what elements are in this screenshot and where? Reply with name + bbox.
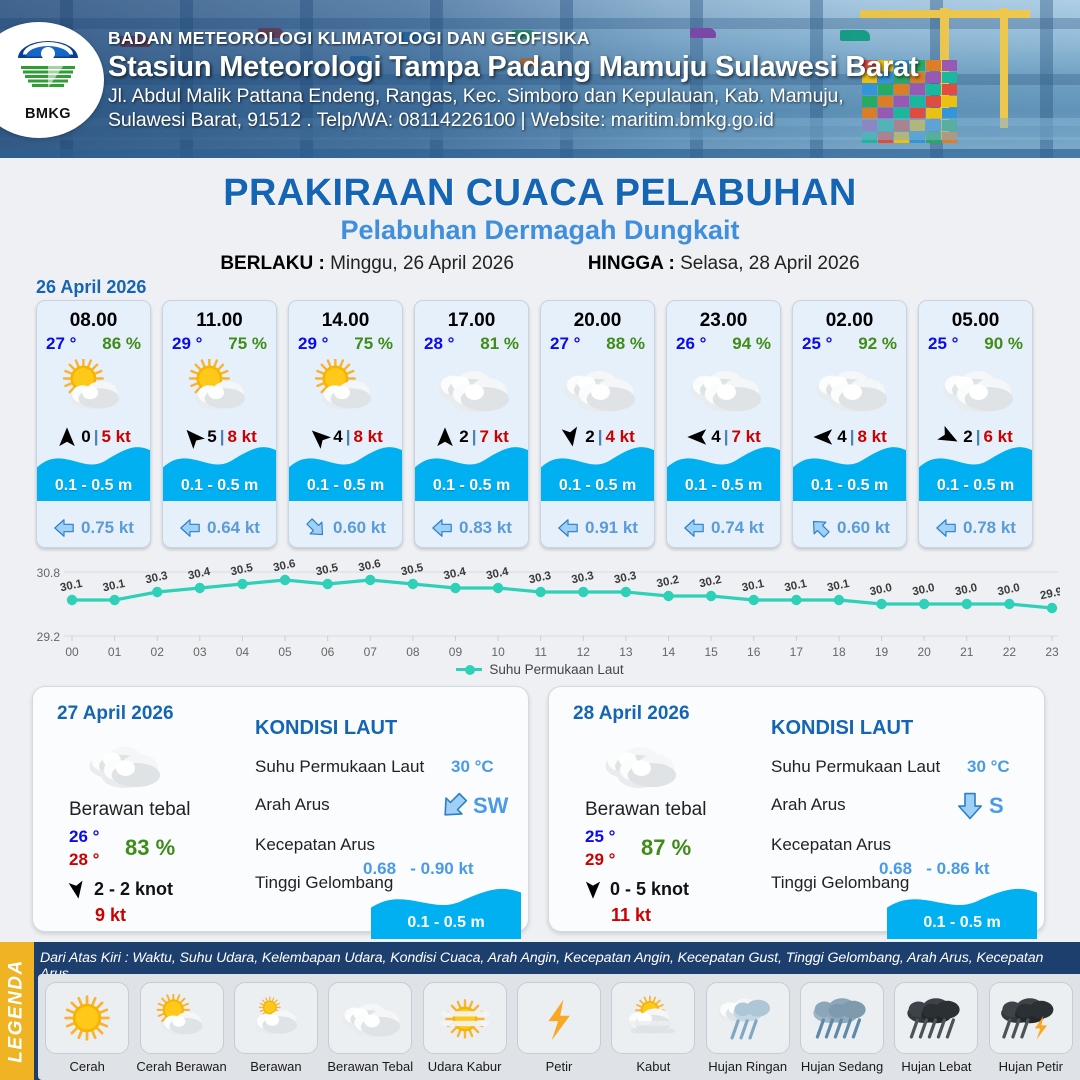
legenda-item[interactable]: Hujan Petir (984, 982, 1078, 1074)
card-wave-wrap: 0.1 - 0.5 m (163, 443, 276, 501)
legenda-item[interactable]: Hujan Ringan (701, 982, 795, 1074)
card-current-speed: 0.60 kt (333, 518, 386, 538)
chart-data-point (322, 579, 332, 589)
chart-data-point (834, 595, 844, 605)
day-gust: 11 kt (611, 905, 651, 926)
legenda-item[interactable]: Hujan Sedang (795, 982, 889, 1074)
card-current-speed: 0.60 kt (837, 518, 890, 538)
card-weather-icon-wrap (667, 357, 780, 419)
card-humidity: 86 % (102, 334, 141, 354)
chart-ytick-min: 29.2 (37, 630, 61, 644)
card-time: 14.00 (289, 310, 402, 332)
card-wave-wrap: 0.1 - 0.5 m (793, 443, 906, 501)
chart-xtick-label: 07 (364, 645, 378, 659)
day-sea-title: KONDISI LAUT (255, 717, 397, 740)
chart-point-label: 30.2 (656, 574, 680, 590)
legenda-item-label: Kabut (636, 1059, 670, 1074)
card-weather-icon-wrap (289, 357, 402, 419)
day-condition: Berawan tebal (69, 799, 190, 821)
sst-chart: 30.829.230.10030.10130.30230.40330.50430… (20, 556, 1060, 676)
chart-xtick-label: 00 (65, 645, 79, 659)
legenda-icon-tile (800, 982, 884, 1054)
chart-data-point (408, 579, 418, 589)
legenda-icon-tile (517, 982, 601, 1054)
current-direction-arrow-icon (935, 517, 957, 539)
day-sst-label: Suhu Permukaan Laut (771, 757, 940, 777)
card-air-temperature: 27 ° (550, 334, 580, 354)
chart-data-point (450, 583, 460, 593)
berawan-icon (245, 994, 307, 1042)
sun-icon (66, 997, 109, 1040)
hujan-lebat-icon (905, 994, 967, 1042)
card-time: 11.00 (163, 310, 276, 332)
kabut-icon (622, 994, 684, 1042)
legenda-icon-tile (989, 982, 1073, 1054)
card-current-speed: 0.78 kt (963, 518, 1016, 538)
card-wave-wrap: 0.1 - 0.5 m (919, 443, 1032, 501)
card-wave-wrap: 0.1 - 0.5 m (289, 443, 402, 501)
card-current-row: 0.64 kt (163, 517, 276, 539)
forecast-card[interactable]: 02.00 25 ° 92 % 4 | 8 kt (792, 300, 907, 548)
valid-from-value: Minggu, 26 April 2026 (330, 253, 514, 274)
day-wave-value: 0.1 - 0.5 m (887, 914, 1037, 932)
legenda-item-label: Cerah (69, 1059, 104, 1074)
card-current-row: 0.74 kt (667, 517, 780, 539)
chart-xtick-label: 04 (236, 645, 250, 659)
forecast-card[interactable]: 11.00 29 ° 75 % 5 | 8 kt (162, 300, 277, 548)
card-air-temperature: 28 ° (424, 334, 454, 354)
legenda-icon-tile (328, 982, 412, 1054)
forecast-card[interactable]: 05.00 25 ° 90 % 2 | 6 kt (918, 300, 1033, 548)
card-humidity: 94 % (732, 334, 771, 354)
legenda-item-label: Hujan Ringan (708, 1059, 787, 1074)
hujan-sedang-icon (811, 994, 873, 1042)
card-current-row: 0.75 kt (37, 517, 150, 539)
chart-ytick-max: 30.8 (37, 566, 61, 580)
legenda-icon-tile (423, 982, 507, 1054)
legenda-item[interactable]: Berawan (229, 982, 323, 1074)
day-wind-range: 0 - 5 knot (610, 879, 689, 900)
legenda-item-label: Berawan (250, 1059, 301, 1074)
legenda-item-label: Udara Kabur (428, 1059, 502, 1074)
current-direction-arrow-icon (433, 785, 475, 827)
berawan-tebal-icon (560, 359, 636, 418)
forecast-card[interactable]: 14.00 29 ° 75 % 4 | 8 kt (288, 300, 403, 548)
chart-data-point (621, 587, 631, 597)
day-date: 27 April 2026 (57, 703, 174, 725)
chart-point-label: 30.0 (869, 582, 893, 598)
current-direction-arrow-icon (557, 517, 579, 539)
chart-xtick-label: 18 (832, 645, 846, 659)
card-time: 08.00 (37, 310, 150, 332)
day-current-speed-label: Kecepatan Arus (771, 835, 891, 855)
chart-point-label: 30.2 (698, 574, 722, 590)
card-time: 23.00 (667, 310, 780, 332)
card-wave-wrap: 0.1 - 0.5 m (37, 443, 150, 501)
forecast-card[interactable]: 20.00 27 ° 88 % 2 | 4 kt (540, 300, 655, 548)
hujan-ringan-icon (717, 994, 779, 1042)
legenda-icon-tile (234, 982, 318, 1054)
card-wave-height: 0.1 - 0.5 m (289, 477, 402, 495)
berawan-tebal-icon (601, 735, 677, 794)
card-wave-height: 0.1 - 0.5 m (793, 477, 906, 495)
bmkg-logo-text: BMKG (9, 106, 87, 122)
berawan-tebal-icon (938, 359, 1014, 418)
chart-point-label: 30.5 (315, 562, 340, 579)
chart-xtick-label: 14 (662, 645, 676, 659)
chart-legend-label: Suhu Permukaan Laut (489, 662, 623, 677)
legenda-item-label: Petir (546, 1059, 573, 1074)
berawan-tebal-icon (339, 994, 401, 1042)
day-wave-badge: 0.1 - 0.5 m (371, 885, 521, 939)
card-values: 25 ° 92 % (793, 332, 906, 354)
day-wind-range: 2 - 2 knot (94, 879, 173, 900)
chart-data-point (791, 595, 801, 605)
berawan-tebal-icon (812, 359, 888, 418)
card-weather-icon-wrap (793, 357, 906, 419)
chart-point-label: 30.0 (997, 582, 1021, 598)
legenda-item-label: Hujan Petir (999, 1059, 1063, 1074)
chart-xtick-label: 16 (747, 645, 761, 659)
forecast-card-row: 08.00 27 ° 86 % 0 | 5 kt (36, 300, 1044, 548)
card-air-temperature: 29 ° (172, 334, 202, 354)
card-humidity: 90 % (984, 334, 1023, 354)
wind-direction-arrow-icon (583, 880, 603, 900)
current-direction-arrow-icon (804, 512, 835, 543)
card-humidity: 88 % (606, 334, 645, 354)
card-values: 27 ° 88 % (541, 332, 654, 354)
card-humidity: 75 % (228, 334, 267, 354)
card-time: 02.00 (793, 310, 906, 332)
chart-xtick-label: 15 (704, 645, 718, 659)
legenda-item[interactable]: Hujan Lebat (889, 982, 983, 1074)
legenda-spine-label: LEGENDA (6, 959, 28, 1062)
card-current-row: 0.60 kt (289, 517, 402, 539)
day-gust: 9 kt (95, 905, 126, 926)
berawan-tebal-icon (85, 735, 161, 794)
valid-from-label: BERLAKU : (220, 253, 325, 274)
cerah-berawan-icon (151, 994, 213, 1042)
chart-xtick-label: 08 (406, 645, 420, 659)
legenda-icon-tile (140, 982, 224, 1054)
day-wave-badge: 0.1 - 0.5 m (887, 885, 1037, 939)
header-bottom-bar (0, 149, 1080, 158)
chart-data-point (749, 595, 759, 605)
chart-point-label: 30.5 (230, 562, 255, 579)
day-sst-label: Suhu Permukaan Laut (255, 757, 424, 777)
chart-xtick-label: 21 (960, 645, 974, 659)
current-direction-arrow-icon (53, 517, 75, 539)
day-humidity: 83 % (125, 835, 175, 861)
forecast-card[interactable]: 17.00 28 ° 81 % 2 | 7 kt (414, 300, 529, 548)
card-humidity: 81 % (480, 334, 519, 354)
cerah-icon (56, 994, 118, 1042)
day-condition: Berawan tebal (585, 799, 706, 821)
lightning-icon (548, 1000, 569, 1041)
card-weather-icon-wrap (163, 357, 276, 419)
current-direction-arrow-icon (431, 517, 453, 539)
chart-legend: Suhu Permukaan Laut (0, 662, 1080, 677)
legenda-item-label: Hujan Lebat (901, 1059, 971, 1074)
card-current-speed: 0.74 kt (711, 518, 764, 538)
forecast-card[interactable]: 23.00 26 ° 94 % 4 | 7 kt (666, 300, 781, 548)
agency-name: BADAN METEOROLOGI KLIMATOLOGI DAN GEOFIS… (108, 28, 1068, 49)
cerah-berawan-icon (56, 359, 132, 418)
legenda-item[interactable]: Udara Kabur (417, 982, 511, 1074)
chart-data-point (962, 599, 972, 609)
card-humidity: 92 % (858, 334, 897, 354)
valid-from: BERLAKU : Minggu, 26 April 2026 (220, 253, 514, 275)
chart-xtick-label: 11 (534, 645, 547, 659)
chart-xtick-label: 05 (278, 645, 292, 659)
card-values: 26 ° 94 % (667, 332, 780, 354)
chart-data-point (578, 587, 588, 597)
legenda-item[interactable]: Cerah Berawan (134, 982, 228, 1074)
day-temp-max: 29 ° (585, 850, 615, 870)
chart-series-line (72, 580, 1052, 608)
page-title: PRAKIRAAN CUACA PELABUHAN (0, 172, 1080, 215)
cloud-icon (255, 1010, 297, 1034)
chart-xtick-label: 09 (449, 645, 463, 659)
card-wave-height: 0.1 - 0.5 m (667, 477, 780, 495)
chart-xtick-label: 19 (875, 645, 889, 659)
berawan-tebal-icon (686, 359, 762, 418)
chart-xtick-label: 17 (790, 645, 804, 659)
current-direction-arrow-icon (179, 517, 201, 539)
hujan-petir-icon (1000, 994, 1062, 1042)
legenda-spine: LEGENDA (0, 942, 34, 1080)
card-values: 25 ° 90 % (919, 332, 1032, 354)
petir-icon (528, 994, 590, 1042)
card-weather-icon-wrap (415, 357, 528, 419)
chart-point-label: 30.4 (485, 566, 510, 583)
sst-chart-svg: 30.829.230.10030.10130.30230.40330.50430… (20, 556, 1060, 676)
legenda-item[interactable]: Berawan Tebal (323, 982, 417, 1074)
valid-to-value: Selasa, 28 April 2026 (680, 253, 860, 274)
legenda-item-label: Berawan Tebal (327, 1059, 413, 1074)
card-air-temperature: 29 ° (298, 334, 328, 354)
card-current-speed: 0.83 kt (459, 518, 512, 538)
day-sea-title: KONDISI LAUT (771, 717, 913, 740)
valid-to-label: HINGGA : (588, 253, 675, 274)
chart-point-label: 29.9 (1039, 586, 1060, 602)
card-weather-icon-wrap (541, 357, 654, 419)
chart-data-point (663, 591, 673, 601)
chart-data-point (493, 583, 503, 593)
legenda-icon-tile (45, 982, 129, 1054)
chart-point-label: 30.1 (59, 578, 84, 595)
chart-xtick-label: 13 (619, 645, 633, 659)
chart-data-point (876, 599, 886, 609)
chart-xtick-label: 10 (491, 645, 505, 659)
day-wave-value: 0.1 - 0.5 m (371, 914, 521, 932)
day-temp-max: 28 ° (69, 850, 99, 870)
day-summary-panel-28: 28 April 2026 Berawan tebal25 °29 °87 % … (548, 686, 1045, 932)
card-wave-height: 0.1 - 0.5 m (541, 477, 654, 495)
forecast-date-label: 26 April 2026 (36, 277, 146, 298)
chart-point-label: 30.0 (954, 582, 978, 598)
card-air-temperature: 27 ° (46, 334, 76, 354)
chart-xtick-label: 22 (1003, 645, 1017, 659)
chart-point-label: 30.5 (400, 562, 425, 579)
card-weather-icon-wrap (37, 357, 150, 419)
chart-xtick-label: 03 (193, 645, 207, 659)
chart-point-label: 30.4 (443, 566, 468, 583)
day-wind-row: 0 - 5 knot (583, 879, 689, 900)
day-humidity: 87 % (641, 835, 691, 861)
chart-data-point (1047, 603, 1057, 613)
valid-to: HINGGA : Selasa, 28 April 2026 (588, 253, 860, 275)
day-weather-icon-wrap (601, 735, 677, 799)
current-direction-arrow-icon (683, 517, 705, 539)
chart-data-point (152, 587, 162, 597)
chart-xtick-label: 06 (321, 645, 335, 659)
legenda-item-label: Hujan Sedang (801, 1059, 883, 1074)
card-time: 05.00 (919, 310, 1032, 332)
day-temp-min: 25 ° (585, 827, 615, 847)
day-date: 28 April 2026 (573, 703, 690, 725)
chart-point-label: 30.1 (741, 578, 766, 595)
legenda-item[interactable]: Kabut (606, 982, 700, 1074)
page-subtitle: Pelabuhan Dermagah Dungkait (0, 215, 1080, 246)
address-line-1: Jl. Abdul Malik Pattana Endeng, Rangas, … (108, 85, 1068, 108)
chart-xtick-label: 01 (108, 645, 122, 659)
day-temp-min: 26 ° (69, 827, 99, 847)
day-current-dir-value: SW (473, 793, 508, 819)
chart-data-point (237, 579, 247, 589)
address-line-2: Sulawesi Barat, 91512 . Telp/WA: 0811422… (108, 109, 1068, 132)
station-name: Stasiun Meteorologi Tampa Padang Mamuju … (108, 51, 1068, 84)
card-time: 20.00 (541, 310, 654, 332)
card-wave-height: 0.1 - 0.5 m (415, 477, 528, 495)
card-current-row: 0.91 kt (541, 517, 654, 539)
card-wave-wrap: 0.1 - 0.5 m (415, 443, 528, 501)
chart-data-point (365, 575, 375, 585)
chart-data-point (535, 587, 545, 597)
bmkg-logo-icon (12, 38, 84, 100)
card-wave-wrap: 0.1 - 0.5 m (541, 443, 654, 501)
forecast-card[interactable]: 08.00 27 ° 86 % 0 | 5 kt (36, 300, 151, 548)
day-current-dir-label: Arah Arus (255, 795, 330, 815)
chart-point-label: 30.1 (102, 578, 127, 595)
chart-data-point (280, 575, 290, 585)
chart-data-point (195, 583, 205, 593)
chart-data-point (919, 599, 929, 609)
berawan-tebal-icon (434, 359, 510, 418)
legenda-icon-strip: Cerah Cerah Berawan Berawan (38, 974, 1080, 1080)
legenda-section: LEGENDA Dari Atas Kiri : Waktu, Suhu Uda… (0, 942, 1080, 1080)
cerah-berawan-icon (308, 359, 384, 418)
day-summary-panel-27: 27 April 2026 Berawan tebal26 °28 °83 % … (32, 686, 529, 932)
day-sst-value: 30 °C (451, 757, 494, 777)
day-current-dir-row: SW (439, 791, 508, 821)
card-humidity: 75 % (354, 334, 393, 354)
chart-xtick-label: 02 (151, 645, 165, 659)
card-time: 17.00 (415, 310, 528, 332)
chart-point-label: 30.0 (911, 582, 935, 598)
page-header: BMKG BADAN METEOROLOGI KLIMATOLOGI DAN G… (0, 0, 1080, 158)
day-current-dir-label: Arah Arus (771, 795, 846, 815)
card-air-temperature: 25 ° (802, 334, 832, 354)
card-weather-icon-wrap (919, 357, 1032, 419)
card-wave-wrap: 0.1 - 0.5 m (667, 443, 780, 501)
wind-direction-arrow-icon (65, 878, 88, 901)
legenda-icon-tile (611, 982, 695, 1054)
current-direction-arrow-icon (955, 791, 985, 821)
sun-icon (446, 1000, 483, 1037)
card-wave-height: 0.1 - 0.5 m (163, 477, 276, 495)
legenda-icon-tile (706, 982, 790, 1054)
card-current-speed: 0.91 kt (585, 518, 638, 538)
day-sst-value: 30 °C (967, 757, 1010, 777)
header-text-block: BADAN METEOROLOGI KLIMATOLOGI DAN GEOFIS… (108, 28, 1068, 132)
chart-data-point (1004, 599, 1014, 609)
card-values: 29 ° 75 % (289, 332, 402, 354)
chart-xtick-label: 12 (577, 645, 591, 659)
card-current-row: 0.83 kt (415, 517, 528, 539)
legenda-icon-tile (894, 982, 978, 1054)
card-values: 29 ° 75 % (163, 332, 276, 354)
chart-point-label: 30.4 (187, 566, 212, 583)
day-current-dir-row: S (955, 791, 1004, 821)
legenda-item[interactable]: Petir (512, 982, 606, 1074)
day-current-dir-value: S (989, 793, 1004, 819)
card-values: 27 ° 86 % (37, 332, 150, 354)
chart-data-point (67, 595, 77, 605)
chart-xtick-label: 23 (1045, 645, 1059, 659)
day-wind-row: 2 - 2 knot (67, 879, 173, 900)
chart-point-label: 30.1 (826, 578, 851, 595)
cerah-berawan-icon (182, 359, 258, 418)
legenda-item-label: Cerah Berawan (136, 1059, 226, 1074)
card-wave-height: 0.1 - 0.5 m (37, 477, 150, 495)
chart-point-label: 30.1 (784, 578, 809, 595)
validity-row: BERLAKU : Minggu, 26 April 2026 HINGGA :… (0, 253, 1080, 275)
day-current-speed-label: Kecepatan Arus (255, 835, 375, 855)
card-wave-height: 0.1 - 0.5 m (919, 477, 1032, 495)
chart-data-point (706, 591, 716, 601)
card-air-temperature: 25 ° (928, 334, 958, 354)
day-weather-icon-wrap (85, 735, 161, 799)
card-current-speed: 0.75 kt (81, 518, 134, 538)
legenda-item[interactable]: Cerah (40, 982, 134, 1074)
chart-legend-marker-icon (456, 668, 482, 671)
card-current-row: 0.78 kt (919, 517, 1032, 539)
chart-xtick-label: 20 (917, 645, 931, 659)
rain-icon (732, 1021, 756, 1038)
current-direction-arrow-icon (300, 512, 331, 543)
card-current-row: 0.60 kt (793, 517, 906, 539)
card-air-temperature: 26 ° (676, 334, 706, 354)
udara-kabur-icon (434, 994, 496, 1042)
chart-data-point (109, 595, 119, 605)
card-values: 28 ° 81 % (415, 332, 528, 354)
card-current-speed: 0.64 kt (207, 518, 260, 538)
